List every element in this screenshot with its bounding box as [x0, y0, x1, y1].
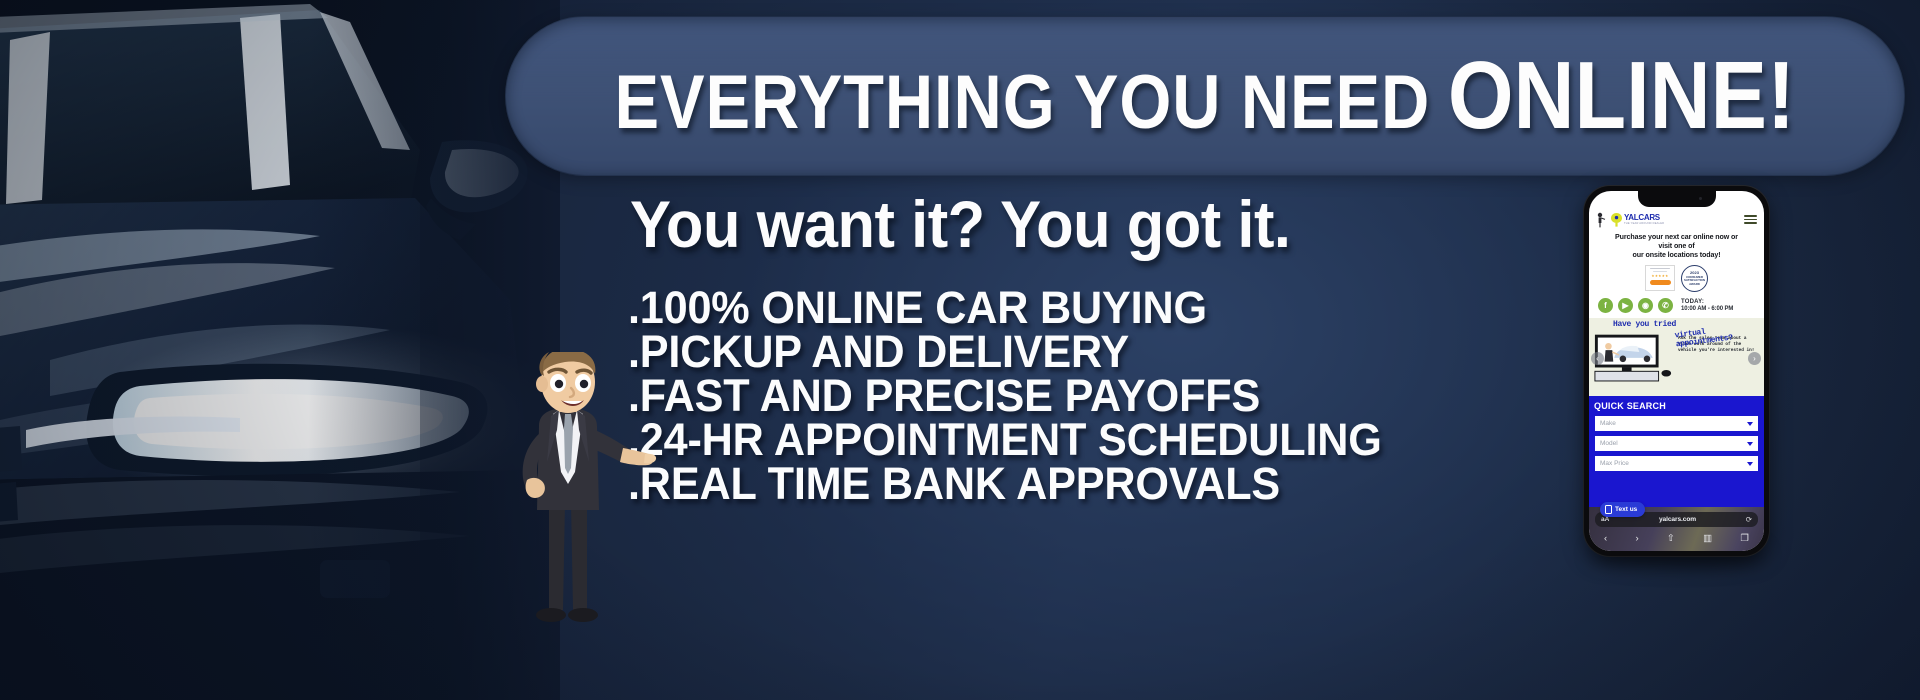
refresh-icon[interactable]: ⟳ [1746, 515, 1752, 524]
attendant-figure-icon [1596, 212, 1609, 228]
tagline-line: our onsite locations today! [1596, 251, 1757, 260]
chevron-down-icon [1747, 422, 1753, 426]
salesman-mascot-icon [487, 352, 657, 632]
max-price-placeholder: Max Price [1600, 460, 1629, 467]
make-placeholder: Make [1600, 420, 1616, 427]
headline-pill: EVERYTHING YOU NEED ONLINE! [505, 16, 1905, 176]
site-tagline: Purchase your next car online now or vis… [1596, 233, 1757, 260]
promo-heading-1: Have you tried [1613, 320, 1676, 329]
feature-item: .PICKUP AND DELIVERY [628, 330, 1382, 374]
text-us-button[interactable]: Text us [1600, 502, 1645, 517]
banner-root: EVERYTHING YOU NEED ONLINE! You want it?… [0, 0, 1920, 700]
hours-value: 10:00 AM - 6:00 PM [1681, 306, 1733, 313]
browser-nav-bar: ‹ › ⇧ ▥ ❐ [1595, 527, 1758, 544]
badge-title: CONSUMER SATISFACTION AWARD [1682, 276, 1707, 286]
youtube-icon[interactable]: ▶ [1618, 298, 1633, 313]
yalcars-mark-icon [1611, 213, 1622, 227]
store-hours: TODAY: 10:00 AM - 6:00 PM [1681, 299, 1733, 313]
phone-mockup: YALCARS THE YEAR AROUND DEALER Purchase … [1584, 186, 1769, 556]
logo-text: YALCARS [1624, 214, 1664, 222]
feature-item: .100% ONLINE CAR BUYING [628, 286, 1382, 330]
consumer-satisfaction-award-badge: 2023 CONSUMER SATISFACTION AWARD [1681, 265, 1708, 292]
quick-search-panel: QUICK SEARCH Make Model Max Price [1589, 396, 1764, 507]
whatsapp-icon[interactable]: ✆ [1658, 298, 1673, 313]
chevron-left-icon[interactable]: ‹ [1591, 352, 1604, 365]
model-placeholder: Model [1600, 440, 1618, 447]
headline: EVERYTHING YOU NEED ONLINE! [615, 41, 1796, 151]
feature-item: .REAL TIME BANK APPROVALS [628, 462, 1382, 506]
max-price-select[interactable]: Max Price [1594, 455, 1759, 472]
headline-accent: ONLINE! [1448, 41, 1795, 151]
phone-notch [1638, 191, 1716, 207]
reader-mode-icon[interactable]: aA [1601, 516, 1609, 523]
make-select[interactable]: Make [1594, 415, 1759, 432]
text-us-label: Text us [1615, 506, 1637, 513]
back-button[interactable]: ‹ [1604, 533, 1607, 544]
url-text: yalcars.com [1659, 516, 1696, 523]
headline-main: EVERYTHING YOU NEED [615, 59, 1431, 146]
badge-stars: ★★★★★ [1651, 274, 1668, 278]
hamburger-icon[interactable] [1744, 215, 1757, 224]
forward-button[interactable]: › [1635, 533, 1638, 544]
social-links: f ▶ ◉ ✆ TODAY: 10:00 AM - 6:00 PM [1596, 298, 1757, 313]
share-button[interactable]: ⇧ [1667, 533, 1675, 544]
quick-search-title: QUICK SEARCH [1594, 400, 1759, 412]
tagline-line: visit one of [1596, 242, 1757, 251]
feature-list: .100% ONLINE CAR BUYING .PICKUP AND DELI… [628, 286, 1413, 506]
chevron-right-icon[interactable]: › [1748, 352, 1761, 365]
chevron-down-icon [1747, 442, 1753, 446]
site-header: YALCARS THE YEAR AROUND DEALER Purchase … [1589, 191, 1764, 313]
feature-item: .24-HR APPOINTMENT SCHEDULING [628, 418, 1382, 462]
tagline-line: Purchase your next car online now or [1596, 233, 1757, 242]
dealer-rater-badge: ★★★★★ [1645, 265, 1675, 291]
facebook-icon[interactable]: f [1598, 298, 1613, 313]
hours-label: TODAY: [1681, 299, 1733, 306]
award-badges: ★★★★★ 2023 CONSUMER SATISFACTION AWARD [1596, 265, 1757, 292]
promo-carousel: Have you tried virtual appointments? [1589, 318, 1764, 396]
monitor-car-icon [1593, 323, 1674, 383]
phone-icon [1605, 505, 1612, 514]
phone-screen: YALCARS THE YEAR AROUND DEALER Purchase … [1589, 191, 1764, 551]
chevron-down-icon [1747, 462, 1753, 466]
bookmarks-button[interactable]: ▥ [1703, 533, 1712, 544]
subheadline: You want it? You got it. [630, 186, 1291, 262]
model-select[interactable]: Model [1594, 435, 1759, 452]
instagram-icon[interactable]: ◉ [1638, 298, 1653, 313]
feature-item: .FAST AND PRECISE PAYOFFS [628, 374, 1382, 418]
site-logo[interactable]: YALCARS THE YEAR AROUND DEALER [1596, 212, 1664, 228]
logo-subtext: THE YEAR AROUND DEALER [1624, 222, 1664, 225]
tabs-button[interactable]: ❐ [1740, 533, 1749, 544]
